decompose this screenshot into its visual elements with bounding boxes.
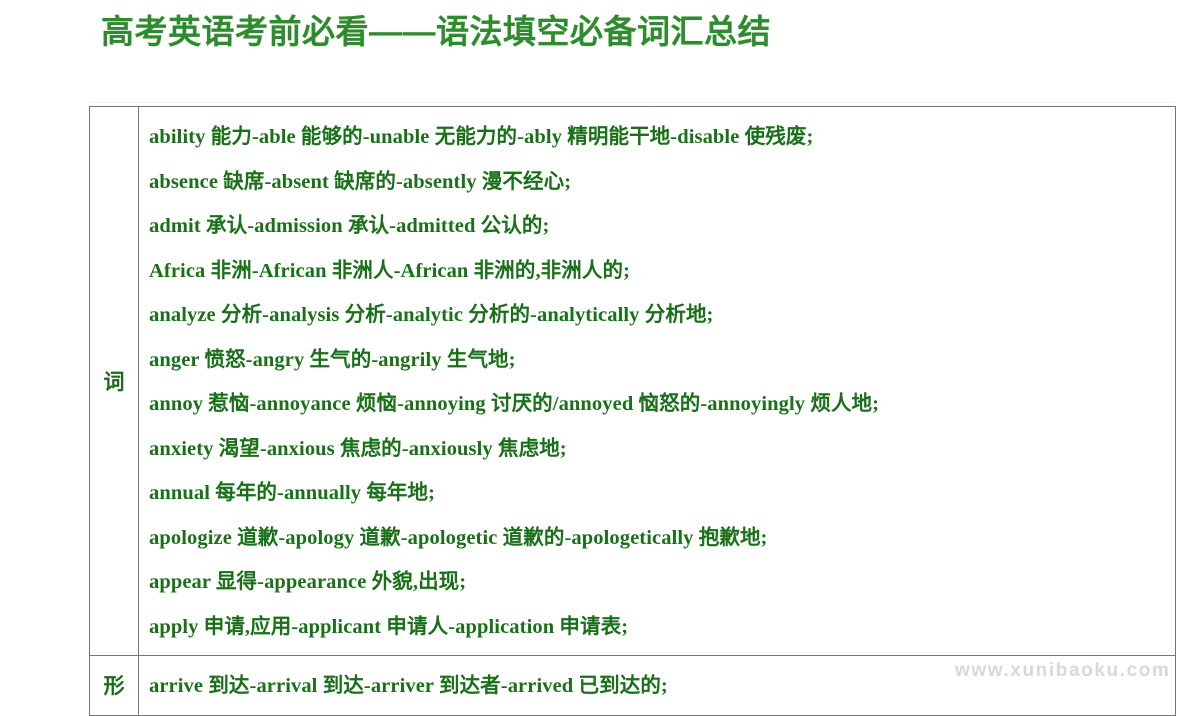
- list-item: apologize 道歉-apology 道歉-apologetic 道歉的-a…: [149, 516, 1175, 561]
- vocabulary-table: 词 ability 能力-able 能够的-unable 无能力的-ably 精…: [89, 106, 1176, 716]
- list-item: ability 能力-able 能够的-unable 无能力的-ably 精明能…: [149, 115, 1175, 160]
- list-item: apply 申请,应用-applicant 申请人-application 申请…: [149, 605, 1175, 650]
- list-item: anxiety 渴望-anxious 焦虑的-anxiously 焦虑地;: [149, 427, 1175, 472]
- entries-cell-adjective: arrive 到达-arrival 到达-arriver 到达者-arrived…: [139, 656, 1176, 716]
- category-cell-adjective: 形: [90, 656, 139, 716]
- vocabulary-table-body: 词 ability 能力-able 能够的-unable 无能力的-ably 精…: [90, 107, 1176, 716]
- table-row: 词 ability 能力-able 能够的-unable 无能力的-ably 精…: [90, 107, 1176, 656]
- list-item: Africa 非洲-African 非洲人-African 非洲的,非洲人的;: [149, 249, 1175, 294]
- page-title: 高考英语考前必看——语法填空必备词汇总结: [101, 12, 771, 52]
- list-item: absence 缺席-absent 缺席的-absently 漫不经心;: [149, 160, 1175, 205]
- list-item: anger 愤怒-angry 生气的-angrily 生气地;: [149, 338, 1175, 383]
- category-cell-word: 词: [90, 107, 139, 656]
- entries-cell-word: ability 能力-able 能够的-unable 无能力的-ably 精明能…: [139, 107, 1176, 656]
- list-item: annoy 惹恼-annoyance 烦恼-annoying 讨厌的/annoy…: [149, 382, 1175, 427]
- list-item: appear 显得-appearance 外貌,出现;: [149, 560, 1175, 605]
- page-rule: [89, 102, 1175, 103]
- list-item: arrive 到达-arrival 到达-arriver 到达者-arrived…: [149, 664, 1175, 709]
- list-item: analyze 分析-analysis 分析-analytic 分析的-anal…: [149, 293, 1175, 338]
- table-row: 形 arrive 到达-arrival 到达-arriver 到达者-arriv…: [90, 656, 1176, 716]
- list-item: admit 承认-admission 承认-admitted 公认的;: [149, 204, 1175, 249]
- list-item: annual 每年的-annually 每年地;: [149, 471, 1175, 516]
